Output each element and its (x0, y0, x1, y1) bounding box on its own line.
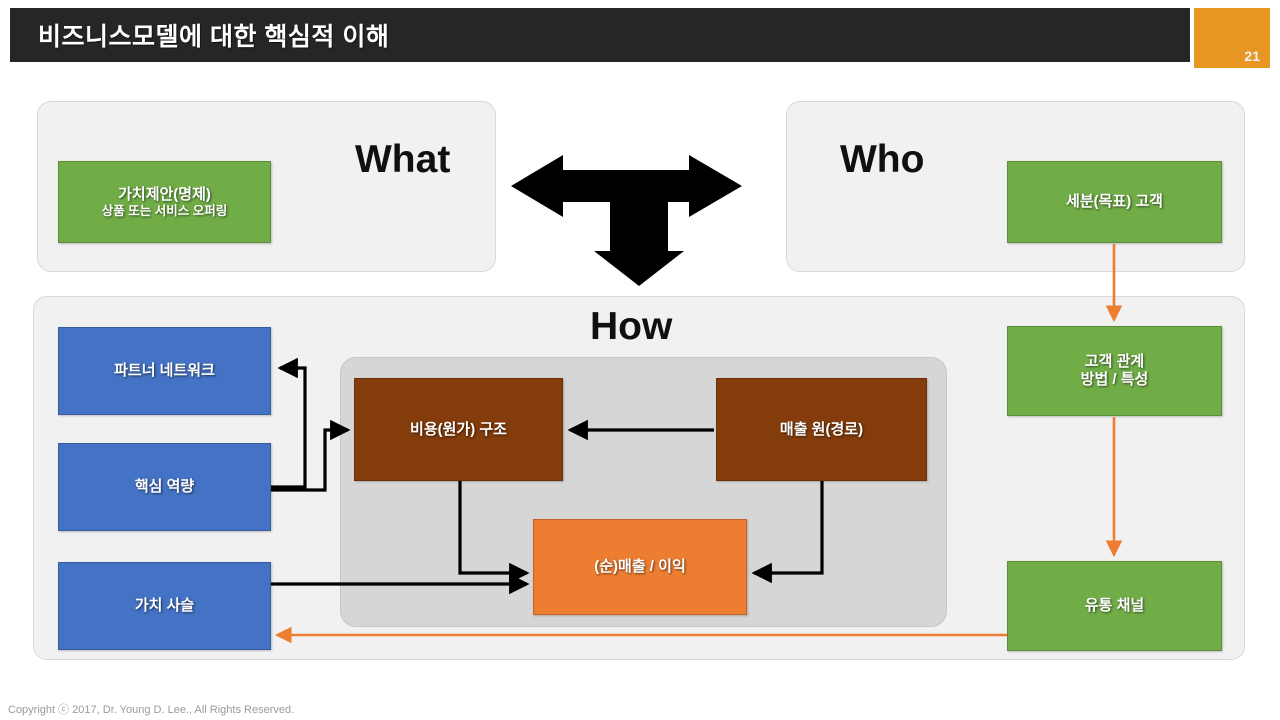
page-number-badge: 21 (1194, 8, 1270, 68)
box-customer-relationship-line2: 방법 / 특성 (1081, 371, 1149, 389)
box-value-proposition[interactable]: 가치제안(명제) 상품 또는 서비스 오퍼링 (58, 161, 271, 243)
box-distribution-channel[interactable]: 유통 채널 (1007, 561, 1222, 651)
page-title: 비즈니스모델에 대한 핵심적 이해 (38, 17, 389, 53)
box-customer-relationship-line1: 고객 관계 (1081, 353, 1149, 371)
tri-direction-arrow (511, 155, 742, 286)
box-target-customer-label: 세분(목표) 고객 (1066, 193, 1163, 211)
box-value-proposition-title: 가치제안(명제) (102, 186, 227, 204)
box-value-chain-label: 가치 사슬 (135, 597, 194, 615)
box-net-profit-label: (순)매출 / 이익 (594, 558, 686, 576)
panel-how-label: How (590, 305, 672, 349)
panel-what-label: What (355, 138, 450, 182)
box-core-competency[interactable]: 핵심 역량 (58, 443, 271, 531)
box-cost-structure-label: 비용(원가) 구조 (410, 421, 507, 439)
box-cost-structure[interactable]: 비용(원가) 구조 (354, 378, 563, 481)
header-bar: 비즈니스모델에 대한 핵심적 이해 (10, 8, 1190, 62)
box-value-proposition-subtitle: 상품 또는 서비스 오퍼링 (102, 204, 227, 219)
panel-who-label: Who (840, 138, 924, 182)
box-revenue-source-label: 매출 원(경로) (780, 421, 863, 439)
box-distribution-channel-label: 유통 채널 (1085, 597, 1144, 615)
copyright-footer: Copyright ⓒ 2017, Dr. Young D. Lee., All… (8, 701, 294, 717)
box-customer-relationship[interactable]: 고객 관계 방법 / 특성 (1007, 326, 1222, 416)
box-net-profit[interactable]: (순)매출 / 이익 (533, 519, 747, 615)
box-revenue-source[interactable]: 매출 원(경로) (716, 378, 927, 481)
box-target-customer[interactable]: 세분(목표) 고객 (1007, 161, 1222, 243)
box-core-competency-label: 핵심 역량 (135, 478, 194, 496)
page-number-label: 21 (1244, 48, 1260, 64)
slide-canvas: 비즈니스모델에 대한 핵심적 이해 21 What 가치제안(명제) 상품 또는… (0, 0, 1280, 720)
box-value-chain[interactable]: 가치 사슬 (58, 562, 271, 650)
box-partner-network[interactable]: 파트너 네트워크 (58, 327, 271, 415)
box-partner-network-label: 파트너 네트워크 (114, 362, 215, 380)
